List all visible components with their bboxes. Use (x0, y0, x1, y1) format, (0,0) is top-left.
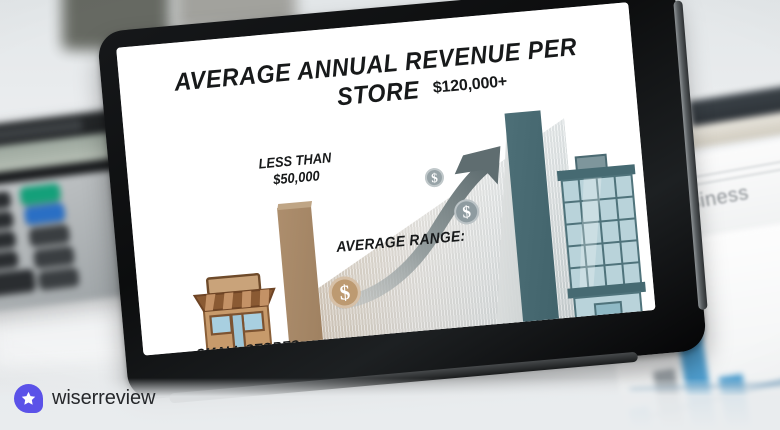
screenshot-stage: usiness AVERAGE ANNUAL REVENUE PER STORE (0, 0, 780, 430)
bar-small-stores (277, 205, 324, 351)
watermark-brand: wiserreview (52, 387, 155, 410)
infographic: AVERAGE ANNUAL REVENUE PER STORE (116, 2, 655, 355)
tablet-device: AVERAGE ANNUAL REVENUE PER STORE (97, 0, 708, 401)
office-building-icon (548, 150, 655, 333)
tablet-screen[interactable]: AVERAGE ANNUAL REVENUE PER STORE (116, 2, 655, 355)
label-low-value-line1: LESS THAN (258, 149, 332, 171)
star-badge-icon (14, 384, 43, 413)
star-icon (20, 390, 37, 407)
label-low-value-line2: $50,000 (272, 167, 320, 187)
infographic-scene: $ $ $ (122, 64, 656, 356)
watermark: wiserreview (14, 384, 155, 413)
